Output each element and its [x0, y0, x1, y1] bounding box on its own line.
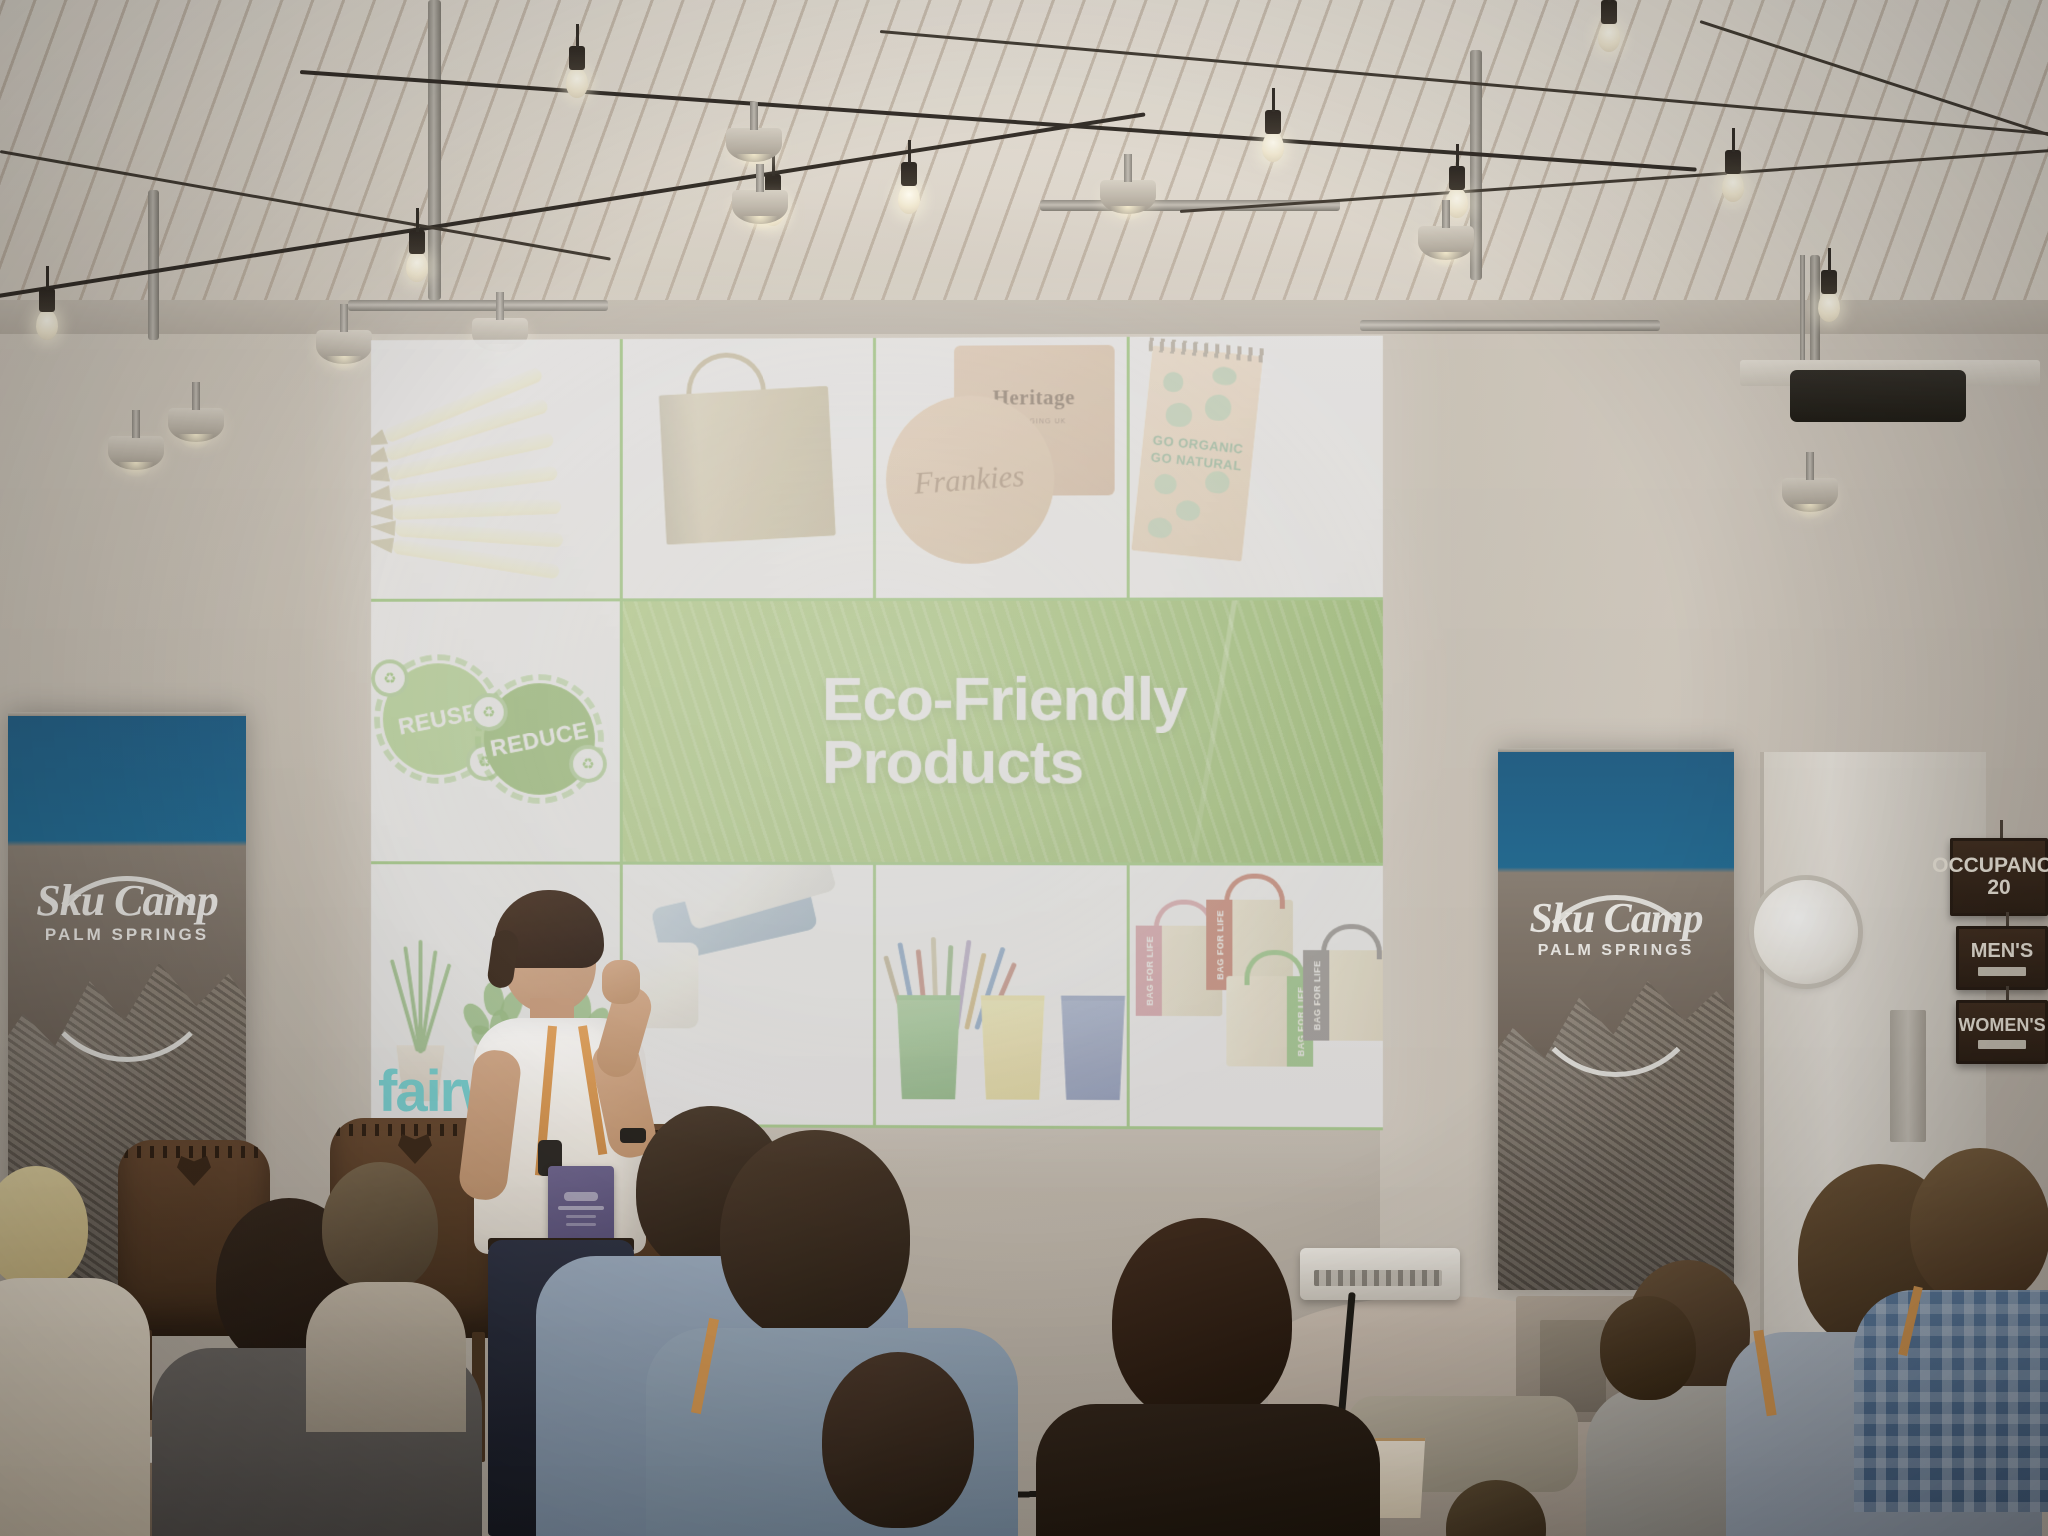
tote-bag-grey: BAG FOR LIFE: [1303, 950, 1383, 1041]
kraft-paper-bag: [659, 386, 836, 545]
eco-pens-cell: [371, 339, 619, 599]
womens-restroom-sign: WOMEN'S: [1956, 1000, 2048, 1064]
head: [1600, 1296, 1696, 1400]
door-push-plate[interactable]: [1890, 1010, 1926, 1142]
audience-member-long-hair: [1046, 1218, 1366, 1536]
slide-title-cell: Eco-Friendly Products: [623, 601, 1383, 863]
string-bulb: [406, 252, 428, 282]
projector-mount-rod: [1800, 255, 1805, 365]
presenter-right-hand: [602, 960, 640, 1004]
string-bulb: [566, 68, 588, 98]
head: [1910, 1148, 2048, 1306]
cone-lamp: [108, 436, 164, 470]
tote-label: BAG FOR LIFE: [1311, 960, 1321, 1030]
audience-member-curly: [312, 1162, 462, 1422]
blue-recycling-bin: [1056, 996, 1127, 1101]
audience-member-back-row: [1590, 1296, 1720, 1446]
string-bulb: [1818, 292, 1840, 322]
tote-label: BAG FOR LIFE: [1215, 910, 1225, 980]
cone-lamp: [168, 408, 224, 442]
slide-title-line2: Products: [822, 728, 1083, 797]
string-bulb: [36, 310, 58, 340]
cone-lamp: [1100, 180, 1156, 214]
cone-lamp: [726, 128, 782, 162]
head: [0, 1166, 88, 1288]
frankies-brand-label: Frankies: [913, 458, 1026, 502]
head: [1112, 1218, 1292, 1424]
mens-sign-label: MEN'S: [1971, 940, 2034, 963]
occupancy-sign-line2: 20: [1987, 877, 2010, 899]
string-bulb: [898, 184, 920, 214]
pipe-vertical-left: [428, 0, 441, 300]
tote-bag-green: BAG FOR LIFE: [1227, 976, 1314, 1067]
cone-lamp: [1782, 478, 1838, 512]
ceiling-edge: [0, 300, 2048, 334]
frankies-coaster: Frankies: [885, 395, 1053, 564]
notebook-cell: GO ORGANIC GO NATURAL: [1130, 336, 1383, 598]
torso: [1854, 1290, 2048, 1512]
slide-title-line1: Eco-Friendly: [822, 665, 1187, 734]
womens-sign-label: WOMEN'S: [1958, 1015, 2045, 1036]
kraft-brand-cell: Heritage PACKAGING UK Frankies: [875, 337, 1126, 598]
pipe-horizontal-left: [348, 300, 608, 311]
string-bulb: [1598, 22, 1620, 52]
tote-label: BAG FOR LIFE: [1144, 936, 1154, 1006]
occupancy-sign: OCCUPANCY 20: [1950, 838, 2048, 916]
cone-lamp: [316, 330, 372, 364]
slide-title: Eco-Friendly Products: [816, 668, 1187, 795]
head: [822, 1352, 974, 1528]
sign-hook: [2000, 820, 2003, 840]
green-recycling-bin: [891, 995, 965, 1099]
reuse-reduce-cell: ♻ ♻ REUSE ♻ ♻ REDUCE: [371, 602, 619, 862]
audience-member-blonde-left: [0, 1166, 150, 1536]
recycling-bins-cell: [875, 865, 1126, 1126]
occupancy-sign-line1: OCCUPANCY: [1932, 855, 2048, 877]
string-bulb: [1262, 132, 1284, 162]
tote-bags-cell: BAG FOR LIFE BAG FOR LIFE BAG FOR LIFE B…: [1130, 865, 1383, 1127]
reduce-badge: ♻ ♻ REDUCE: [484, 683, 595, 795]
torso: [1036, 1404, 1380, 1536]
torso: [306, 1282, 466, 1432]
torso: [0, 1278, 150, 1536]
door-porthole-window: [1754, 880, 1858, 984]
banner-right: Sku Camp PALM SPRINGS: [1498, 748, 1734, 1290]
audience-member-far-right: [1440, 1480, 1570, 1536]
cone-lamp: [1418, 226, 1474, 260]
pipe-vertical-mid: [148, 190, 159, 340]
audience-member-plaid: [1870, 1148, 2048, 1508]
head: [322, 1162, 438, 1292]
head: [1446, 1480, 1546, 1536]
cone-lamp: [732, 190, 788, 224]
plain-notebook: [1248, 351, 1375, 557]
organic-notebook: GO ORGANIC GO NATURAL: [1132, 346, 1264, 562]
pipe-horizontal-right: [1360, 320, 1660, 331]
mens-restroom-sign: MEN'S: [1956, 926, 2048, 990]
string-bulb: [1722, 172, 1744, 202]
head: [720, 1130, 910, 1342]
ceiling-projector: [1790, 370, 1966, 422]
audience-member-foreground: [800, 1352, 1000, 1536]
yellow-recycling-bin: [976, 995, 1050, 1099]
kraft-bag-cell: [623, 338, 873, 599]
conference-room-photo: Heritage PACKAGING UK Frankies: [0, 0, 2048, 1536]
